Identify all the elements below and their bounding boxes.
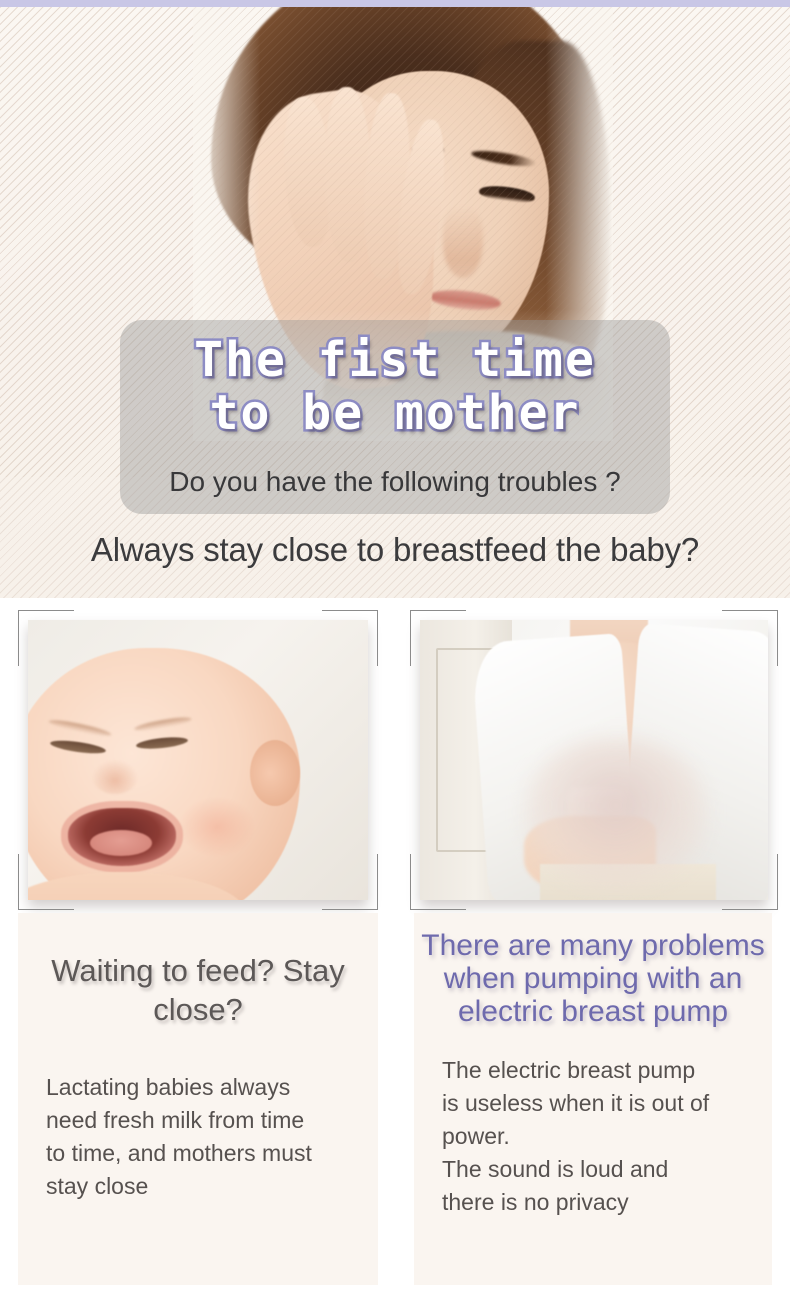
card-body-text: The electric breast pump is useless when… [414, 1028, 772, 1219]
cards-section: Waiting to feed? Stay close? Lactating b… [0, 598, 790, 1312]
card-text-panel: Waiting to feed? Stay close? Lactating b… [18, 913, 378, 1285]
card-title: Waiting to feed? Stay close? [18, 913, 378, 1029]
headline-text: The fist time to be mother [120, 334, 670, 440]
photo-frame [420, 620, 768, 900]
crying-baby-photo [28, 620, 368, 900]
hero-question-text: Always stay close to breastfeed the baby… [0, 531, 790, 569]
photo-frame [28, 620, 368, 900]
baby-nose-shape [92, 760, 138, 794]
card-text-panel: There are many problems when pumping wit… [414, 913, 772, 1285]
hero-section: The fist time to be mother Do you have t… [0, 7, 790, 598]
card-title: There are many problems when pumping wit… [414, 913, 772, 1028]
top-accent-bar [0, 0, 790, 7]
headline-badge: The fist time to be mother Do you have t… [120, 320, 670, 514]
privacy-blur-overlay [526, 738, 706, 888]
breast-pump-photo [420, 620, 768, 900]
baby-tongue-shape [90, 830, 152, 856]
card-body-text: Lactating babies always need fresh milk … [18, 1029, 378, 1203]
headline-subtitle: Do you have the following troubles ? [120, 466, 670, 498]
baby-ear-shape [250, 740, 300, 806]
baby-cheek-shape [178, 796, 256, 858]
